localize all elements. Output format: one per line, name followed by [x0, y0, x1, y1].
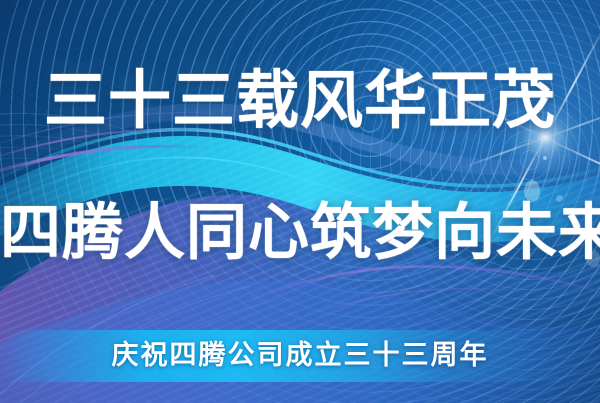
anniversary-banner: 三十三载风华正茂 四腾人同心筑梦向未来 庆祝四腾公司成立三十三周年: [0, 0, 600, 403]
headline-line-2: 四腾人同心筑梦向未来: [0, 198, 600, 268]
subtitle-text: 庆祝四腾公司成立三十三周年: [0, 338, 600, 374]
headline-line-1: 三十三载风华正茂: [0, 66, 600, 136]
